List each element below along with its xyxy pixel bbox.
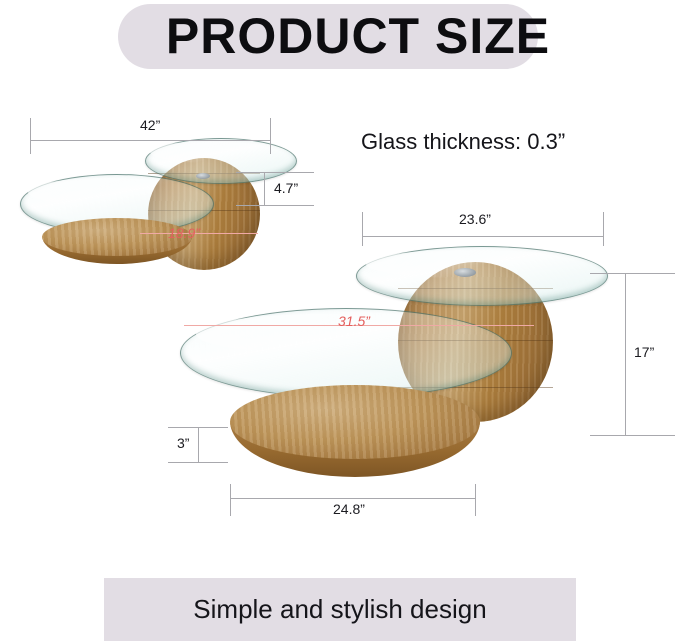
dim-248-label: 24.8” [329,501,369,517]
dim-236-tick-left [362,212,363,246]
dim-17-line [625,273,626,436]
footer-tagline: Simple and stylish design [104,578,576,641]
dim-17-ext-bottom [590,435,675,436]
dim-47-label: 4.7” [270,180,302,196]
dim-17-label: 17” [630,344,658,360]
top-glass-post-cap [454,268,476,277]
dim-248-tick-left [230,484,231,516]
dim-42-label: 42” [136,117,164,133]
page-title: PRODUCT SIZE [128,6,588,66]
dim-3-line [198,427,199,463]
diagram-extended-view: 23.6” 31.5” 17” 3” [160,200,679,530]
dim-42-tick-right [270,118,271,154]
wood-base-plate [230,385,480,477]
dim-248-line [230,498,476,499]
dim-17-ext-top [590,273,675,274]
product-size-infographic: PRODUCT SIZE Glass thickness: 0.3” 42” [0,0,679,641]
glass-thickness-note: Glass thickness: 0.3” [361,129,565,155]
dim-42-line [30,140,271,141]
upper-glass-disc [145,138,297,184]
dim-236-line [362,236,604,237]
dim-3-label: 3” [173,435,193,451]
dim-47-ext-top [236,172,314,173]
top-glass-tabletop [356,246,608,306]
dim-315-label: 31.5” [338,313,370,329]
glass-post-cap [196,173,210,179]
dim-248-tick-right [475,484,476,516]
dim-42-tick-left [30,118,31,154]
dim-236-label: 23.6” [455,211,495,227]
base-plate-surface [230,385,480,459]
dim-236-tick-right [603,212,604,246]
